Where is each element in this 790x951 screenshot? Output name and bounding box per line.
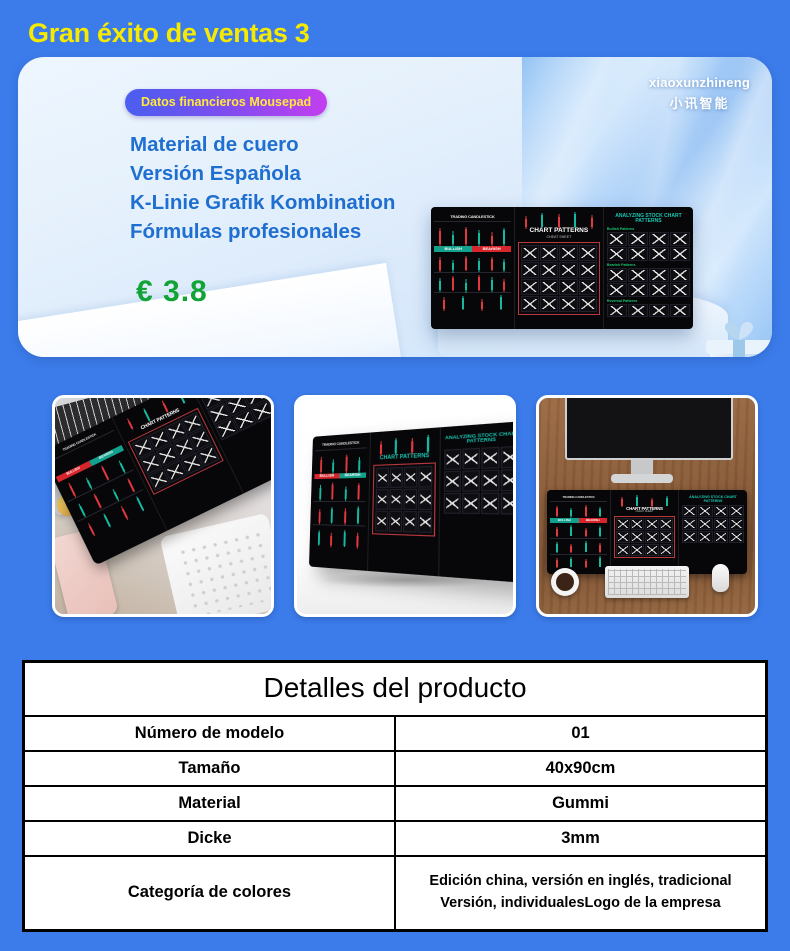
hero-feature-item: Versión Española xyxy=(130,159,395,188)
pad-section-bullish: Bullish Patterns xyxy=(607,227,690,231)
mousepad-product: TRADING CANDLESTICK BULLISHBEARISH xyxy=(547,490,747,574)
detail-key: Categoría de colores xyxy=(25,856,395,929)
mousepad-product: TRADING CANDLESTICK BULLISHBEARISH xyxy=(309,421,516,583)
page-title-details: Detalles del producto xyxy=(25,663,765,716)
detail-key: Tamaño xyxy=(25,751,395,786)
monitor-prop xyxy=(565,395,733,460)
hero-feature-item: Fórmulas profesionales xyxy=(130,217,395,246)
hero-product-mousepad: TRADING CANDLESTICK BULLISH BEARISH xyxy=(431,207,693,329)
detail-key: Dicke xyxy=(25,821,395,856)
table-row: Categoría de colores Edición china, vers… xyxy=(25,856,765,929)
photo-workstation: TRADING CANDLESTICK BULLISHBEARISH xyxy=(539,398,755,614)
detail-key: Material xyxy=(25,786,395,821)
detail-value: Edición china, versión en inglés, tradic… xyxy=(395,856,765,929)
pad-section-bearish: Bearish Patterns xyxy=(607,263,690,267)
product-details-table: Detalles del producto Número de modelo 0… xyxy=(22,660,768,932)
hero-feature-item: Material de cuero xyxy=(130,130,395,159)
photo-product-perspective: TRADING CANDLESTICK BULLISHBEARISH xyxy=(297,398,513,614)
brand-mark: xiaoxunzhineng 小讯智能 xyxy=(649,75,750,112)
gift-box-icon xyxy=(696,312,772,357)
detail-value: 3mm xyxy=(395,821,765,856)
coffee-cup-prop xyxy=(551,568,579,596)
basket-prop xyxy=(160,513,274,617)
keyboard-prop xyxy=(605,566,689,598)
pad-panel3-title: ANALYZING STOCK CHART PATTERNS xyxy=(607,214,690,224)
detail-value: 40x90cm xyxy=(395,751,765,786)
pad-panel-candlestick: TRADING CANDLESTICK BULLISH BEARISH xyxy=(431,207,515,329)
price-label: € 3.8 xyxy=(136,275,208,309)
hero-white-slab xyxy=(18,263,405,357)
hero-feature-list: Material de cuero Versión Española K-Lin… xyxy=(130,130,395,246)
list-item[interactable]: TRADING CANDLESTICK BULLISHBEARISH xyxy=(294,395,516,617)
hero-feature-item: K-Linie Grafik Kombination xyxy=(130,188,395,217)
detail-value: Gummi xyxy=(395,786,765,821)
hero-banner: Datos financieros Mousepad Material de c… xyxy=(18,57,772,357)
brand-name-chinese: 小讯智能 xyxy=(649,93,750,112)
mouse-prop xyxy=(712,564,729,592)
table-row: Material Gummi xyxy=(25,786,765,821)
pad-panel-analyzing: ANALYZING STOCK CHART PATTERNS Bullish P… xyxy=(604,207,693,329)
table-row: Número de modelo 01 xyxy=(25,716,765,751)
product-photo-gallery: TRADING CANDLESTICK BULLISHBEARISH xyxy=(0,395,790,623)
list-item[interactable]: TRADING CANDLESTICK BULLISHBEARISH xyxy=(536,395,758,617)
detail-value: 01 xyxy=(395,716,765,751)
detail-key: Número de modelo xyxy=(25,716,395,751)
pad-panel2-subtitle: CHEAT SHEET xyxy=(518,236,600,240)
brand-name-latin: xiaoxunzhineng xyxy=(649,75,750,90)
pad-panel-chart-patterns: CHART PATTERNS CHEAT SHEET xyxy=(515,207,604,329)
table-title-row: Detalles del producto xyxy=(25,663,765,716)
list-item[interactable]: TRADING CANDLESTICK BULLISHBEARISH xyxy=(52,395,274,617)
pad-section-reversal: Reversal Patterns xyxy=(607,299,690,303)
photo-laptop-desk: TRADING CANDLESTICK BULLISHBEARISH xyxy=(55,398,271,614)
page-title: Gran éxito de ventas 3 xyxy=(28,18,310,49)
table-row: Dicke 3mm xyxy=(25,821,765,856)
table-row: Tamaño 40x90cm xyxy=(25,751,765,786)
product-badge: Datos financieros Mousepad xyxy=(125,89,327,116)
pad-panel1-title: TRADING CANDLESTICK xyxy=(434,215,511,219)
